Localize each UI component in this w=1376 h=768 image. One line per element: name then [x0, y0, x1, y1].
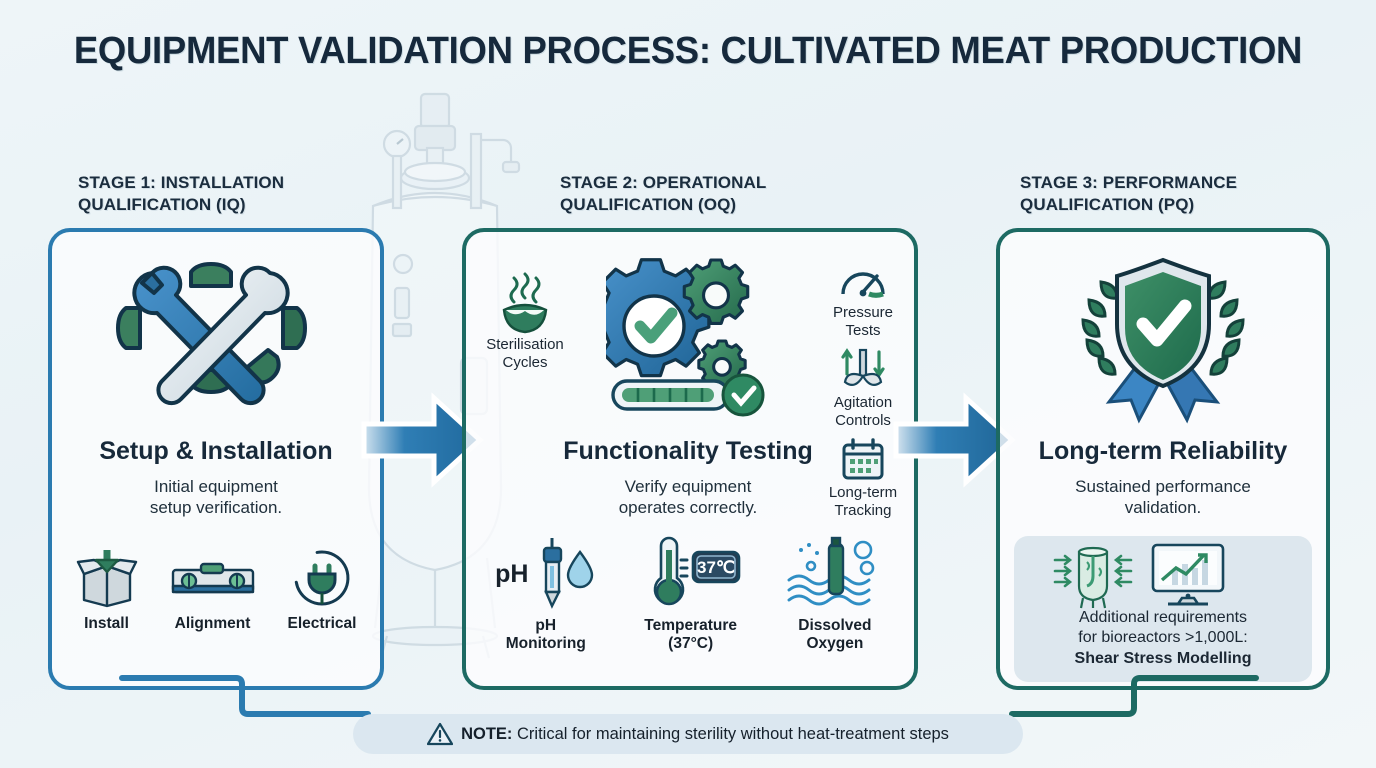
mini-ph-monitoring[interactable]: pH pH Monitoring — [495, 536, 596, 654]
stage-2-mini-row: pH pH Monitoring — [474, 536, 906, 654]
stage-1-header-line1: STAGE 1: INSTALLATION — [78, 172, 284, 194]
stage-2-header-line2: QUALIFICATION (OQ) — [560, 194, 766, 216]
agitation-impeller-icon — [837, 348, 889, 392]
side-pressure-tests-label: Pressure Tests — [833, 304, 893, 340]
shear-stress-bioreactor-icon — [1053, 540, 1133, 610]
stage-3-subtitle-line2: validation. — [1006, 497, 1320, 518]
stage-3-subtitle-line1: Sustained performance — [1006, 476, 1320, 497]
note-bar: NOTE: Critical for maintaining sterility… — [353, 714, 1023, 754]
thermometer-display-icon: 37℃ — [639, 536, 743, 612]
pressure-gauge-icon — [839, 262, 887, 302]
power-plug-icon — [291, 548, 353, 610]
stage-1-subtitle-line2: setup verification. — [58, 497, 374, 518]
mini-dissolved-oxygen[interactable]: Dissolved Oxygen — [785, 536, 885, 654]
stage-2-subtitle-line2: operates correctly. — [528, 497, 848, 518]
mini-dissolved-oxygen-label: Dissolved Oxygen — [798, 617, 871, 654]
stage-1-header: STAGE 1: INSTALLATION QUALIFICATION (IQ) — [78, 172, 284, 216]
stage-1-card-title: Setup & Installation — [58, 437, 374, 466]
side-agitation-controls-label: Agitation Controls — [834, 394, 892, 430]
mini-install-label: Install — [84, 615, 129, 633]
infographic-canvas: EQUIPMENT VALIDATION PROCESS: CULTIVATED… — [0, 0, 1376, 768]
monitor-trend-chart-icon — [1148, 540, 1228, 610]
ph-probe-droplet-icon — [530, 536, 596, 612]
mini-ph-monitoring-label: pH Monitoring — [506, 617, 586, 654]
shield-check-laurel-award-icon — [1063, 248, 1263, 428]
mini-install[interactable]: Install — [76, 548, 138, 633]
stage-1-mini-row: Install Alignment — [60, 548, 372, 633]
stage-3-header-line2: QUALIFICATION (PQ) — [1020, 194, 1237, 216]
panel-text-line1: Additional requirements — [1014, 608, 1312, 628]
panel-text-line2: for bioreactors >1,000L: — [1014, 628, 1312, 648]
mini-temperature-label: Temperature (37°C) — [644, 617, 737, 654]
side-pressure-tests[interactable]: Pressure Tests — [810, 262, 916, 340]
mini-electrical[interactable]: Electrical — [288, 548, 357, 633]
stage-1-card-subtitle: Initial equipment setup verification. — [58, 476, 374, 519]
mini-alignment[interactable]: Alignment — [169, 548, 257, 633]
warning-triangle-icon — [427, 722, 453, 746]
temperature-display-value: 37℃ — [697, 558, 735, 577]
stage-3-card-title: Long-term Reliability — [1006, 437, 1320, 466]
side-sterilisation[interactable]: Sterilisation Cycles — [477, 272, 573, 372]
stage-3-header: STAGE 3: PERFORMANCE QUALIFICATION (PQ) — [1020, 172, 1237, 216]
stage-2-header-line1: STAGE 2: OPERATIONAL — [560, 172, 766, 194]
stage-3-header-line1: STAGE 3: PERFORMANCE — [1020, 172, 1237, 194]
side-sterilisation-label: Sterilisation Cycles — [486, 336, 564, 372]
stage-3-card-subtitle: Sustained performance validation. — [1006, 476, 1320, 519]
stage-1-header-line2: QUALIFICATION (IQ) — [78, 194, 284, 216]
page-title: EQUIPMENT VALIDATION PROCESS: CULTIVATED… — [28, 30, 1349, 73]
stage-1-subtitle-line1: Initial equipment — [58, 476, 374, 497]
spirit-level-icon — [169, 548, 257, 610]
stage-2-card-title: Functionality Testing — [528, 437, 848, 466]
stage-2-card-subtitle: Verify equipment operates correctly. — [528, 476, 848, 519]
stage-2-subtitle-line1: Verify equipment — [528, 476, 848, 497]
package-box-download-icon — [76, 548, 138, 610]
mini-alignment-label: Alignment — [175, 615, 251, 633]
note-text: NOTE: Critical for maintaining sterility… — [461, 725, 949, 744]
ph-prefix-text: pH — [495, 560, 528, 589]
note-label: NOTE: — [461, 725, 512, 743]
crossed-wrenches-gear-icon — [104, 248, 319, 408]
mini-electrical-label: Electrical — [288, 615, 357, 633]
sterilisation-steam-icon — [496, 272, 554, 334]
mini-temperature[interactable]: 37℃ Temperature (37°C) — [639, 536, 743, 654]
note-body: Critical for maintaining sterility witho… — [517, 725, 949, 743]
progress-bar-complete-icon — [610, 372, 770, 418]
dissolved-oxygen-probe-icon — [785, 536, 885, 612]
stage-2-header: STAGE 2: OPERATIONAL QUALIFICATION (OQ) — [560, 172, 766, 216]
